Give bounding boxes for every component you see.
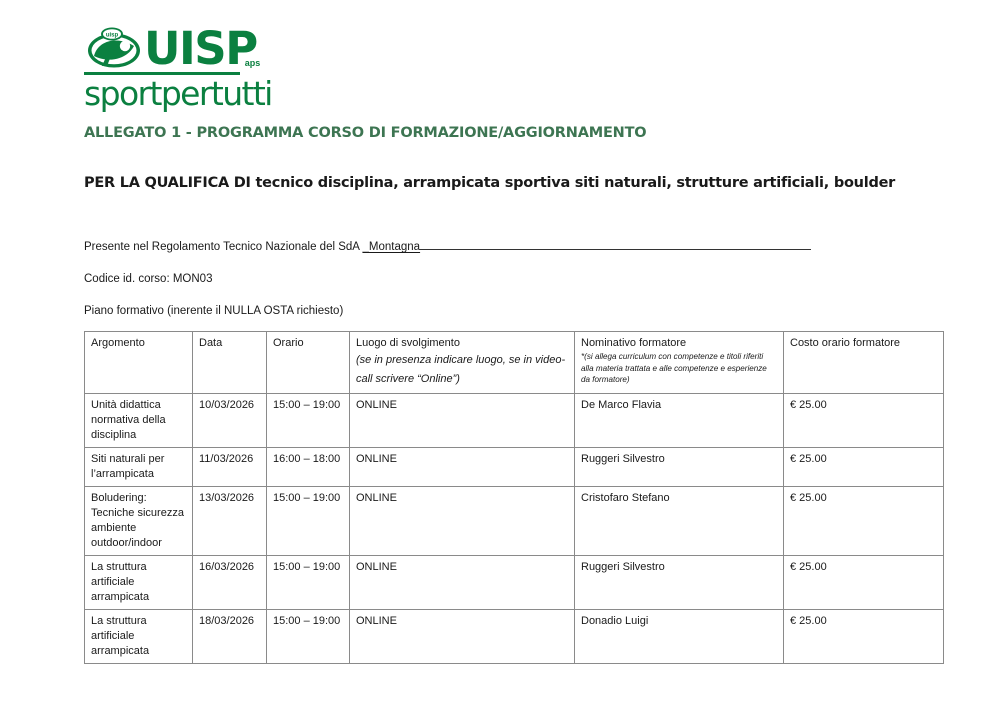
cell-data: 10/03/2026 (193, 394, 267, 448)
table-row: Siti naturali per l’arrampicata 11/03/20… (85, 448, 944, 487)
table-row: La struttura artificiale arrampicata 16/… (85, 556, 944, 610)
codice-corso-line: Codice id. corso: MON03 (84, 272, 212, 286)
logo-top-row: uisp UISP aps (84, 22, 384, 70)
table-header-row: Argomento Data Orario Luogo di svolgimen… (85, 332, 944, 394)
cell-costo: € 25.00 (784, 487, 944, 556)
table-row: La struttura artificiale arrampicata 18/… (85, 610, 944, 664)
header-nominativo: Nominativo formatore *(si allega curricu… (575, 332, 784, 394)
cell-luogo: ONLINE (350, 556, 575, 610)
cell-orario: 15:00 – 19:00 (267, 487, 350, 556)
logo-tagline: sportpertutti (84, 76, 384, 112)
cell-luogo: ONLINE (350, 487, 575, 556)
cell-nominativo: Donadio Luigi (575, 610, 784, 664)
cell-costo: € 25.00 (784, 556, 944, 610)
cell-orario: 15:00 – 19:00 (267, 556, 350, 610)
cell-costo: € 25.00 (784, 448, 944, 487)
table-row: Unità didattica normativa della discipli… (85, 394, 944, 448)
regolamento-label: Presente nel Regolamento Tecnico Naziona… (84, 241, 359, 253)
cell-luogo: ONLINE (350, 448, 575, 487)
cell-data: 13/03/2026 (193, 487, 267, 556)
emblem-label: uisp (106, 32, 119, 38)
header-luogo-main: Luogo di svolgimento (356, 336, 569, 351)
cell-orario: 15:00 – 19:00 (267, 394, 350, 448)
logo-wordmark-text: UISP (144, 28, 257, 70)
uisp-runner-emblem-icon: uisp (84, 26, 142, 70)
cell-nominativo: Cristofaro Stefano (575, 487, 784, 556)
header-luogo-sub: (se in presenza indicare luogo, se in vi… (356, 351, 569, 389)
cell-costo: € 25.00 (784, 610, 944, 664)
header-argomento: Argomento (85, 332, 193, 394)
logo-aps-suffix: aps (245, 58, 261, 68)
header-orario: Orario (267, 332, 350, 394)
cell-data: 16/03/2026 (193, 556, 267, 610)
logo-wordmark: UISP aps (144, 28, 272, 70)
cell-nominativo: Ruggeri Silvestro (575, 448, 784, 487)
header-luogo: Luogo di svolgimento (se in presenza ind… (350, 332, 575, 394)
training-schedule-table: Argomento Data Orario Luogo di svolgimen… (84, 331, 944, 664)
piano-formativo-line: Piano formativo (inerente il NULLA OSTA … (84, 304, 343, 318)
cell-data: 11/03/2026 (193, 448, 267, 487)
cell-data: 18/03/2026 (193, 610, 267, 664)
table-row: Boludering: Tecniche sicurezza ambiente … (85, 487, 944, 556)
header-data: Data (193, 332, 267, 394)
uisp-logo: uisp UISP aps sportpertutti (84, 22, 384, 112)
regolamento-value: _Montagna (363, 241, 421, 253)
cell-orario: 15:00 – 19:00 (267, 610, 350, 664)
page-title: ALLEGATO 1 - PROGRAMMA CORSO DI FORMAZIO… (84, 125, 646, 141)
cell-argomento: Unità didattica normativa della discipli… (85, 394, 193, 448)
cell-luogo: ONLINE (350, 610, 575, 664)
cell-argomento: La struttura artificiale arrampicata (85, 556, 193, 610)
cell-costo: € 25.00 (784, 394, 944, 448)
regolamento-blank-line (419, 239, 811, 250)
cell-argomento: La struttura artificiale arrampicata (85, 610, 193, 664)
header-costo: Costo orario formatore (784, 332, 944, 394)
cell-nominativo: Ruggeri Silvestro (575, 556, 784, 610)
header-nominativo-main: Nominativo formatore (581, 336, 778, 351)
cell-argomento: Boludering: Tecniche sicurezza ambiente … (85, 487, 193, 556)
header-nominativo-note: *(si allega curriculum con competenze e … (581, 351, 778, 386)
cell-nominativo: De Marco Flavia (575, 394, 784, 448)
cell-orario: 16:00 – 18:00 (267, 448, 350, 487)
cell-luogo: ONLINE (350, 394, 575, 448)
page-subtitle: PER LA QUALIFICA DI tecnico disciplina, … (84, 168, 910, 199)
regolamento-line: Presente nel Regolamento Tecnico Naziona… (84, 239, 811, 254)
cell-argomento: Siti naturali per l’arrampicata (85, 448, 193, 487)
